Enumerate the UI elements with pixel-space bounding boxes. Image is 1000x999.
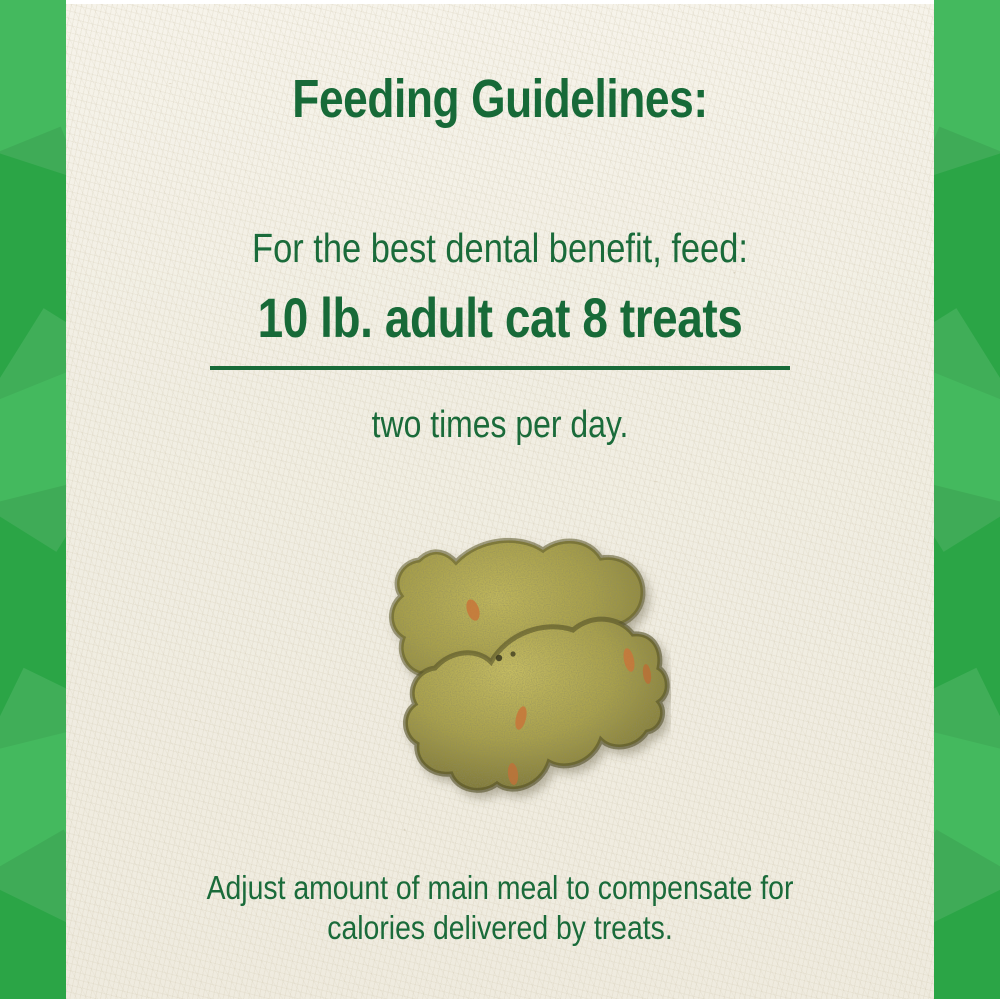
footnote-text: Adjust amount of main meal to compensate…	[127, 868, 873, 949]
dosage-frequency-text: two times per day.	[135, 406, 864, 444]
feeding-guidelines-panel: Feeding Guidelines: For the best dental …	[0, 0, 1000, 999]
right-green-band	[934, 0, 1000, 999]
dosage-amount-text: 10 lb. adult cat 8 treats	[144, 290, 856, 346]
cat-treats-photo	[361, 522, 671, 822]
footnote-line-2: calories delivered by treats.	[127, 908, 873, 948]
footnote-line-1: Adjust amount of main meal to compensate…	[127, 868, 873, 908]
page-title: Feeding Guidelines:	[144, 72, 856, 126]
dosage-intro-text: For the best dental benefit, feed:	[135, 228, 864, 269]
panel-content: Feeding Guidelines: For the best dental …	[66, 0, 934, 999]
dosage-underline-rule	[210, 366, 790, 370]
left-green-band	[0, 0, 66, 999]
